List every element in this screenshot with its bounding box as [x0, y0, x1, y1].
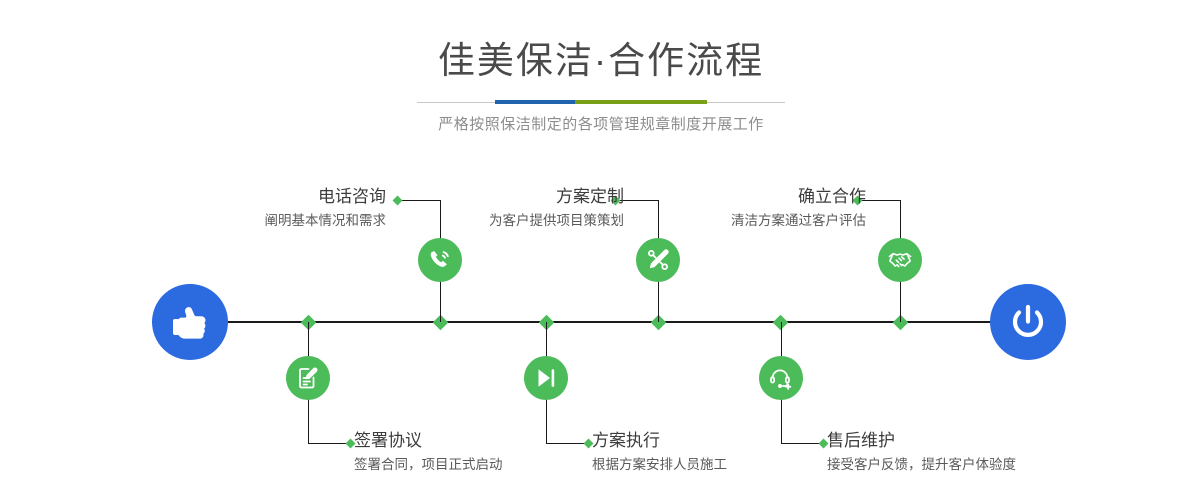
pencil-compass-icon [645, 247, 671, 273]
step-label-establish-cooperation: 确立合作 清洁方案通过客户评估 [731, 186, 866, 231]
process-flow-infographic: 佳美保洁·合作流程 严格按照保洁制定的各项管理规章制度开展工作 [0, 0, 1202, 502]
step-label-plan-execute: 方案执行 根据方案安排人员施工 [592, 430, 727, 475]
connector-horizontal-step4 [546, 443, 588, 444]
document-sign-icon [295, 365, 321, 391]
step-desc: 根据方案安排人员施工 [592, 455, 727, 475]
step-label-plan-customize: 方案定制 为客户提供项目策策划 [489, 186, 624, 231]
step-title: 方案定制 [489, 186, 624, 208]
step-desc: 阐明基本情况和需求 [265, 211, 387, 231]
step-icon-after-sales[interactable] [759, 356, 803, 400]
play-execute-icon [533, 365, 559, 391]
step-desc: 接受客户反馈，提升客户体验度 [827, 455, 1016, 475]
customer-support-icon [768, 365, 794, 391]
step-label-sign-agreement: 签署协议 签署合同，项目正式启动 [354, 430, 503, 475]
step-title: 售后维护 [827, 430, 1016, 452]
timeline-end-node [990, 284, 1066, 360]
label-marker-step1 [393, 195, 403, 205]
step-icon-establish-cooperation[interactable] [878, 238, 922, 282]
step-label-after-sales: 售后维护 接受客户反馈，提升客户体验度 [827, 430, 1016, 475]
timeline-start-node [152, 284, 228, 360]
step-icon-plan-execute[interactable] [524, 356, 568, 400]
step-title: 方案执行 [592, 430, 727, 452]
phone-call-icon [427, 247, 453, 273]
power-icon [1006, 300, 1050, 344]
step-icon-plan-customize[interactable] [636, 238, 680, 282]
step-label-phone-consult: 电话咨询 阐明基本情况和需求 [265, 186, 387, 231]
timeline-axis [152, 321, 1052, 323]
step-icon-sign-agreement[interactable] [286, 356, 330, 400]
step-desc: 清洁方案通过客户评估 [731, 211, 866, 231]
connector-horizontal-step1 [398, 200, 440, 201]
step-desc: 为客户提供项目策策划 [489, 211, 624, 231]
step-icon-phone-consult[interactable] [418, 238, 462, 282]
timeline: 电话咨询 阐明基本情况和需求 签署协议 签署合同，项目正式启动 [0, 0, 1202, 502]
step-title: 电话咨询 [265, 186, 387, 208]
step-desc: 签署合同，项目正式启动 [354, 455, 503, 475]
step-title: 确立合作 [731, 186, 866, 208]
connector-horizontal-step2 [308, 443, 350, 444]
pointing-hand-icon [169, 301, 211, 343]
step-title: 签署协议 [354, 430, 503, 452]
handshake-icon [887, 247, 913, 273]
connector-horizontal-step6 [781, 443, 823, 444]
